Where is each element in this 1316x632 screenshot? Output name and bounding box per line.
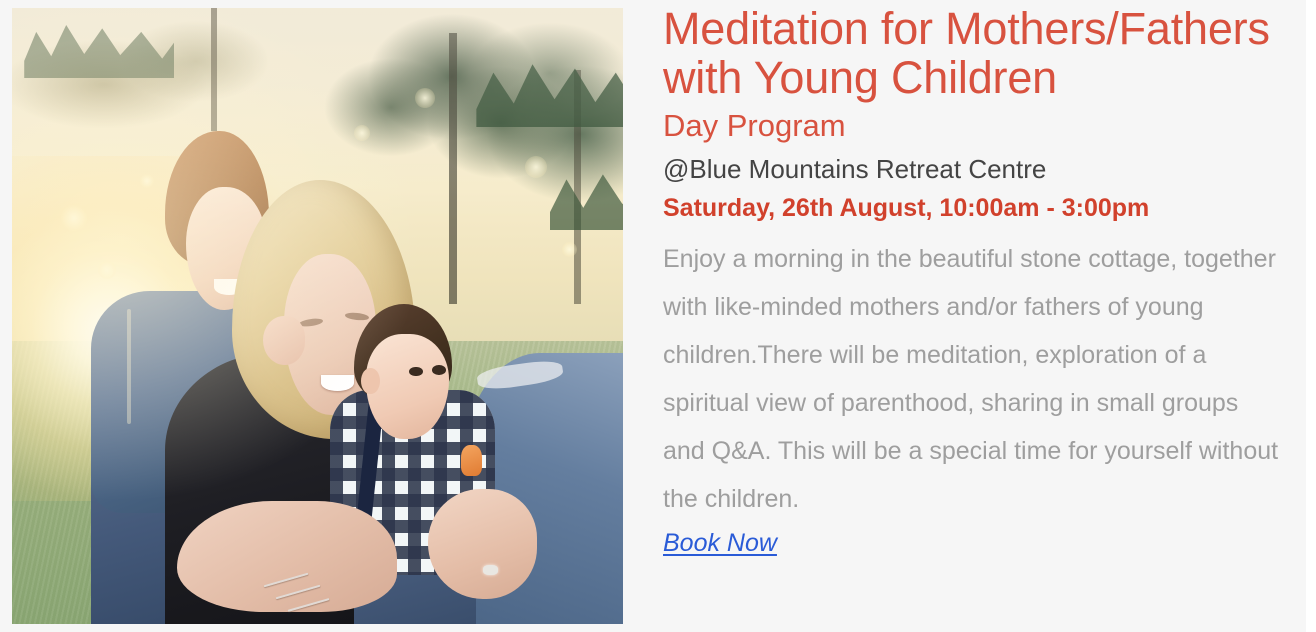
photo-baby-eye: [409, 367, 422, 377]
photo-mother-ring: [483, 565, 498, 575]
photo-bokeh-dot: [61, 205, 87, 231]
photo-baby-toy: [461, 445, 482, 476]
photo-scene: [12, 8, 623, 624]
photo-tree-trunk: [211, 8, 217, 131]
photo-bokeh-dot: [98, 261, 116, 279]
photo-bokeh-dot: [562, 242, 577, 257]
event-photo: [12, 8, 623, 624]
right-gutter: [1306, 0, 1316, 632]
event-venue: @Blue Mountains Retreat Centre: [663, 154, 1300, 184]
event-photo-column: [0, 0, 623, 632]
photo-child-hand: [263, 316, 306, 365]
photo-baby-ear: [361, 368, 379, 394]
photo-bokeh-dot: [525, 156, 547, 178]
photo-baby-eye: [432, 365, 445, 375]
book-now-link[interactable]: Book Now: [663, 527, 777, 559]
event-promo-card: Meditation for Mothers/Fathers with Youn…: [0, 0, 1316, 632]
event-details-column: Meditation for Mothers/Fathers with Youn…: [623, 0, 1316, 559]
event-subtitle: Day Program: [663, 108, 1300, 144]
photo-mother-smile: [321, 375, 355, 391]
event-datetime: Saturday, 26th August, 10:00am - 3:00pm: [663, 194, 1300, 223]
event-title: Meditation for Mothers/Fathers with Youn…: [663, 4, 1300, 102]
photo-mother-hand: [428, 489, 538, 600]
event-description: Enjoy a morning in the beautiful stone c…: [663, 235, 1283, 523]
photo-tree-trunk: [449, 33, 457, 304]
